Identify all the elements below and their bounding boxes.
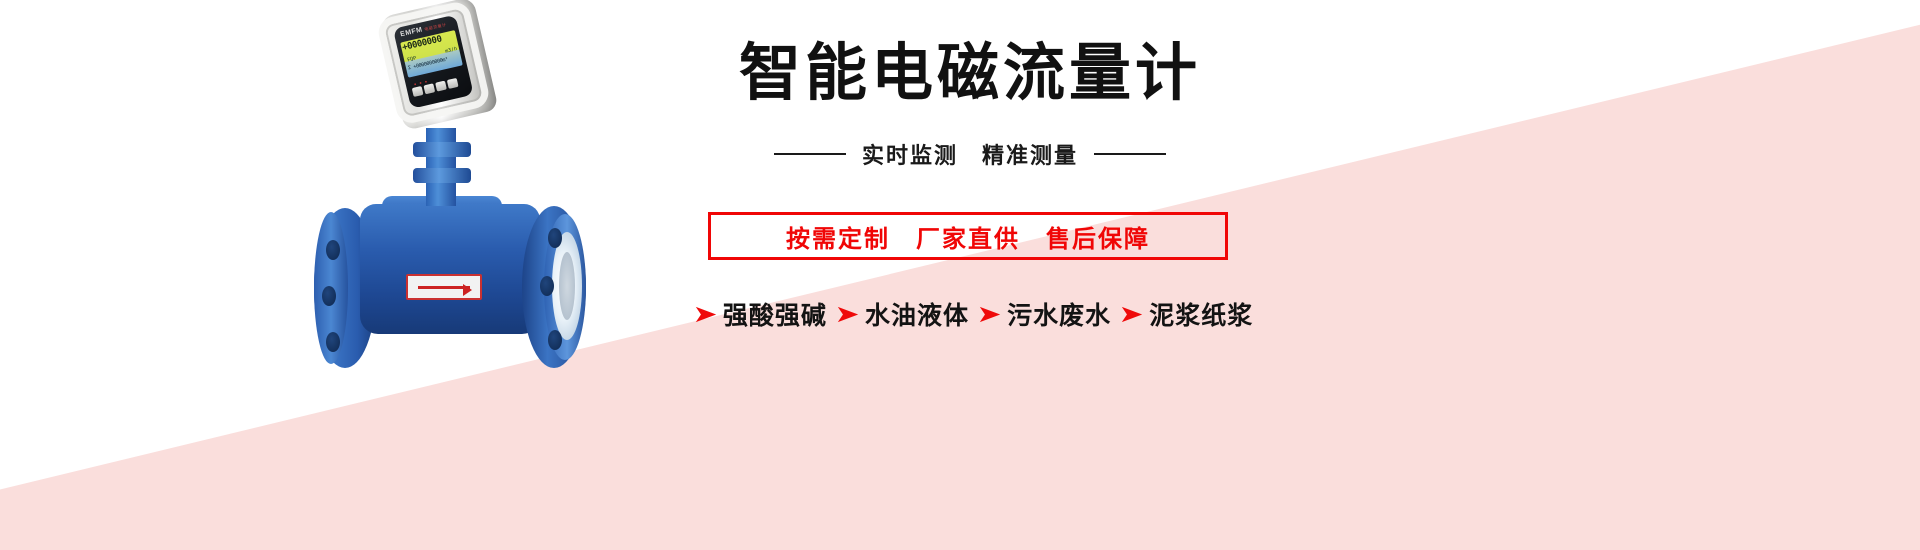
feature-list: ➤ 强酸强碱 ➤ 水油液体 ➤ 污水废水 ➤ 泥浆纸浆	[614, 296, 1334, 332]
keypad-button[interactable]	[447, 78, 459, 89]
promo-text: 按需定制 厂家直供 售后保障	[786, 219, 1150, 254]
flange-bolt	[326, 332, 340, 352]
product-banner: EMFM电磁流量计 +0000000 FQP m3/h Σ +000000000…	[0, 0, 1920, 550]
page-title: 智能电磁流量计	[660, 42, 1280, 104]
right-triangle-icon: ➤	[834, 302, 859, 326]
brand-text: EMFM	[400, 26, 424, 38]
flange-bolt	[326, 240, 340, 260]
flow-direction-arrow-icon	[418, 286, 470, 289]
right-triangle-icon: ➤	[1119, 302, 1144, 326]
brand-subtext: 电磁流量计	[424, 22, 447, 32]
lcd-tag: FQP	[407, 56, 417, 64]
flange-bolt	[322, 286, 336, 306]
feature-label: 泥浆纸浆	[1149, 296, 1253, 332]
rule-left-icon	[774, 153, 846, 155]
feature-item: ➤ 水油液体	[837, 296, 969, 332]
keypad-button[interactable]	[435, 81, 447, 92]
flange-right-bore	[559, 252, 575, 320]
promo-badge: 按需定制 厂家直供 售后保障	[708, 212, 1228, 260]
subtitle-row: 实时监测 精准测量	[660, 138, 1280, 170]
flowtube-body	[360, 204, 540, 334]
lcd-display: +0000000 FQP m3/h Σ +0000000000m³	[400, 30, 463, 78]
keypad-button[interactable]	[423, 83, 435, 94]
subtitle-text: 实时监测 精准测量	[862, 138, 1078, 170]
feature-label: 污水废水	[1007, 296, 1111, 332]
flange-bolt	[540, 276, 554, 296]
keypad-button[interactable]	[412, 86, 424, 97]
flange-bolt	[548, 228, 562, 248]
neck-flange-lower	[413, 168, 471, 183]
lcd-unit: m3/h	[445, 46, 458, 55]
flowmeter-illustration: EMFM电磁流量计 +0000000 FQP m3/h Σ +000000000…	[300, 0, 660, 420]
flange-bolt	[548, 330, 562, 350]
feature-label: 强酸强碱	[723, 296, 827, 332]
transmitter-head: EMFM电磁流量计 +0000000 FQP m3/h Σ +000000000…	[373, 0, 521, 160]
feature-item: ➤ 泥浆纸浆	[1121, 296, 1253, 332]
right-triangle-icon: ➤	[976, 302, 1001, 326]
right-triangle-icon: ➤	[692, 302, 717, 326]
flow-direction-plate	[406, 274, 482, 300]
banner-copy: 智能电磁流量计 实时监测 精准测量 按需定制 厂家直供 售后保障 ➤ 强酸强碱 …	[660, 0, 1280, 550]
feature-item: ➤ 污水废水	[979, 296, 1111, 332]
feature-item: ➤ 强酸强碱	[695, 296, 827, 332]
feature-label: 水油液体	[865, 296, 969, 332]
rule-right-icon	[1094, 153, 1166, 155]
